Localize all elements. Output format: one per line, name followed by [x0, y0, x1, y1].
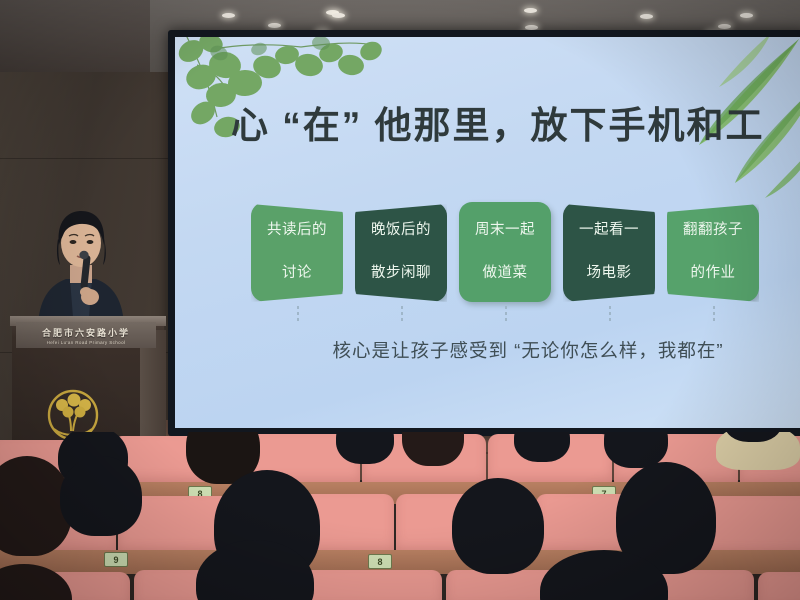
ceiling-spotlight	[718, 24, 731, 29]
projection-screen: 心 “在” 他那里，放下手机和工 共读后的 讨论 晚饭后的 散步闲聊 周末一起 …	[175, 37, 800, 428]
slide-box: 周末一起 做道菜	[459, 202, 551, 302]
audience-area: 8 7 9 8	[0, 432, 800, 600]
screen-bezel: 心 “在” 他那里，放下手机和工 共读后的 讨论 晚饭后的 散步闲聊 周末一起 …	[168, 30, 800, 436]
slide-box-line1: 晚饭后的	[367, 220, 435, 241]
ceiling-spotlight	[740, 13, 753, 18]
slide-box-line1: 一起看一	[575, 220, 643, 241]
slide-box-line1: 周末一起	[471, 220, 539, 241]
audience-head	[60, 456, 142, 536]
school-name-en: Hefei Lu'an Road Primary School	[47, 340, 126, 345]
wall-seam	[0, 158, 172, 159]
box-connector-tick	[401, 306, 403, 322]
slide-box-line2: 场电影	[575, 263, 643, 284]
seat-number-badge: 8	[368, 554, 392, 569]
slide-box-line2: 做道菜	[471, 263, 539, 284]
slide-box: 一起看一 场电影	[563, 202, 655, 302]
lectern-nameplate: 合肥市六安路小学 Hefei Lu'an Road Primary School	[16, 322, 156, 348]
slide-caption: 核心是让孩子感受到 “无论你怎么样，我都在”	[293, 337, 763, 363]
seat	[758, 572, 800, 600]
ceiling-spotlight	[332, 13, 345, 18]
slide-box-line1: 翻翻孩子	[679, 220, 747, 241]
ceiling-spotlight	[222, 13, 235, 18]
slide-box: 翻翻孩子 的作业	[667, 202, 759, 302]
box-connector-tick	[297, 306, 299, 322]
slide-box-line2: 讨论	[263, 263, 331, 284]
ceiling-spotlight	[268, 23, 281, 28]
slide-box-row: 共读后的 讨论 晚饭后的 散步闲聊 周末一起 做道菜 一起看一	[251, 202, 797, 320]
slide-box-line2: 的作业	[679, 263, 747, 284]
slide-box-line2: 散步闲聊	[367, 263, 435, 284]
slide-box: 晚饭后的 散步闲聊	[355, 202, 447, 302]
box-connector-tick	[713, 306, 715, 322]
speaker-person	[26, 205, 134, 330]
presentation-hall-photo: 心 “在” 他那里，放下手机和工 共读后的 讨论 晚饭后的 散步闲聊 周末一起 …	[0, 0, 800, 600]
box-connector-tick	[609, 306, 611, 322]
ceiling-spotlight	[640, 14, 653, 19]
box-connector-tick	[505, 306, 507, 322]
audience-head	[452, 478, 544, 574]
ceiling-spotlight	[524, 8, 537, 13]
slide-box-line1: 共读后的	[263, 220, 331, 241]
school-name-cn: 合肥市六安路小学	[42, 326, 130, 339]
seat-number-badge: 9	[104, 552, 128, 567]
slide-box: 共读后的 讨论	[251, 202, 343, 302]
slide-title: 心 “在” 他那里，放下手机和工	[231, 105, 800, 146]
